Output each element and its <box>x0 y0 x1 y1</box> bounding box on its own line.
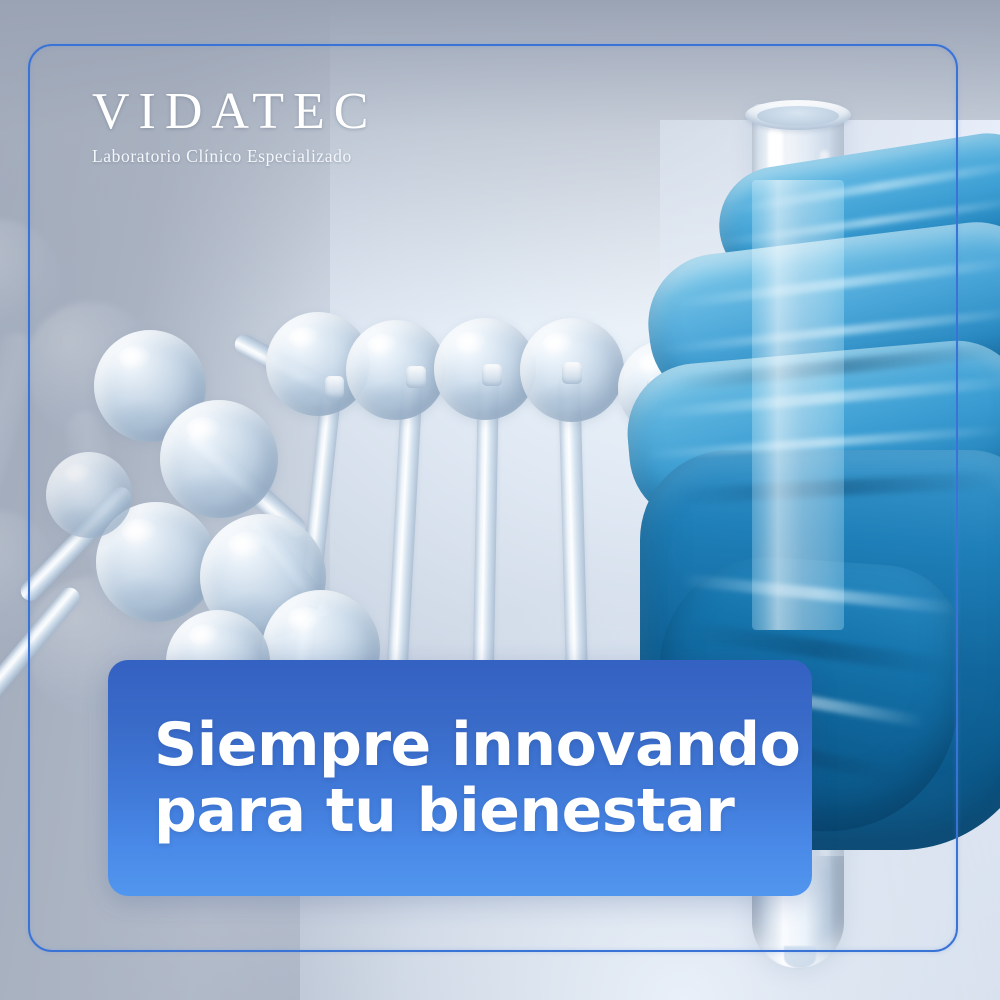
promo-poster: VIDATEC Laboratorio Clínico Especializad… <box>0 0 1000 1000</box>
brand-logo: VIDATEC Laboratorio Clínico Especializad… <box>92 86 377 167</box>
headline-line-1: Siempre innovando <box>154 713 812 777</box>
headline-line-2: para tu bienestar <box>154 779 812 843</box>
brand-tagline: Laboratorio Clínico Especializado <box>92 146 377 167</box>
brand-name: VIDATEC <box>92 86 377 138</box>
headline-banner: Siempre innovando para tu bienestar <box>108 660 812 896</box>
